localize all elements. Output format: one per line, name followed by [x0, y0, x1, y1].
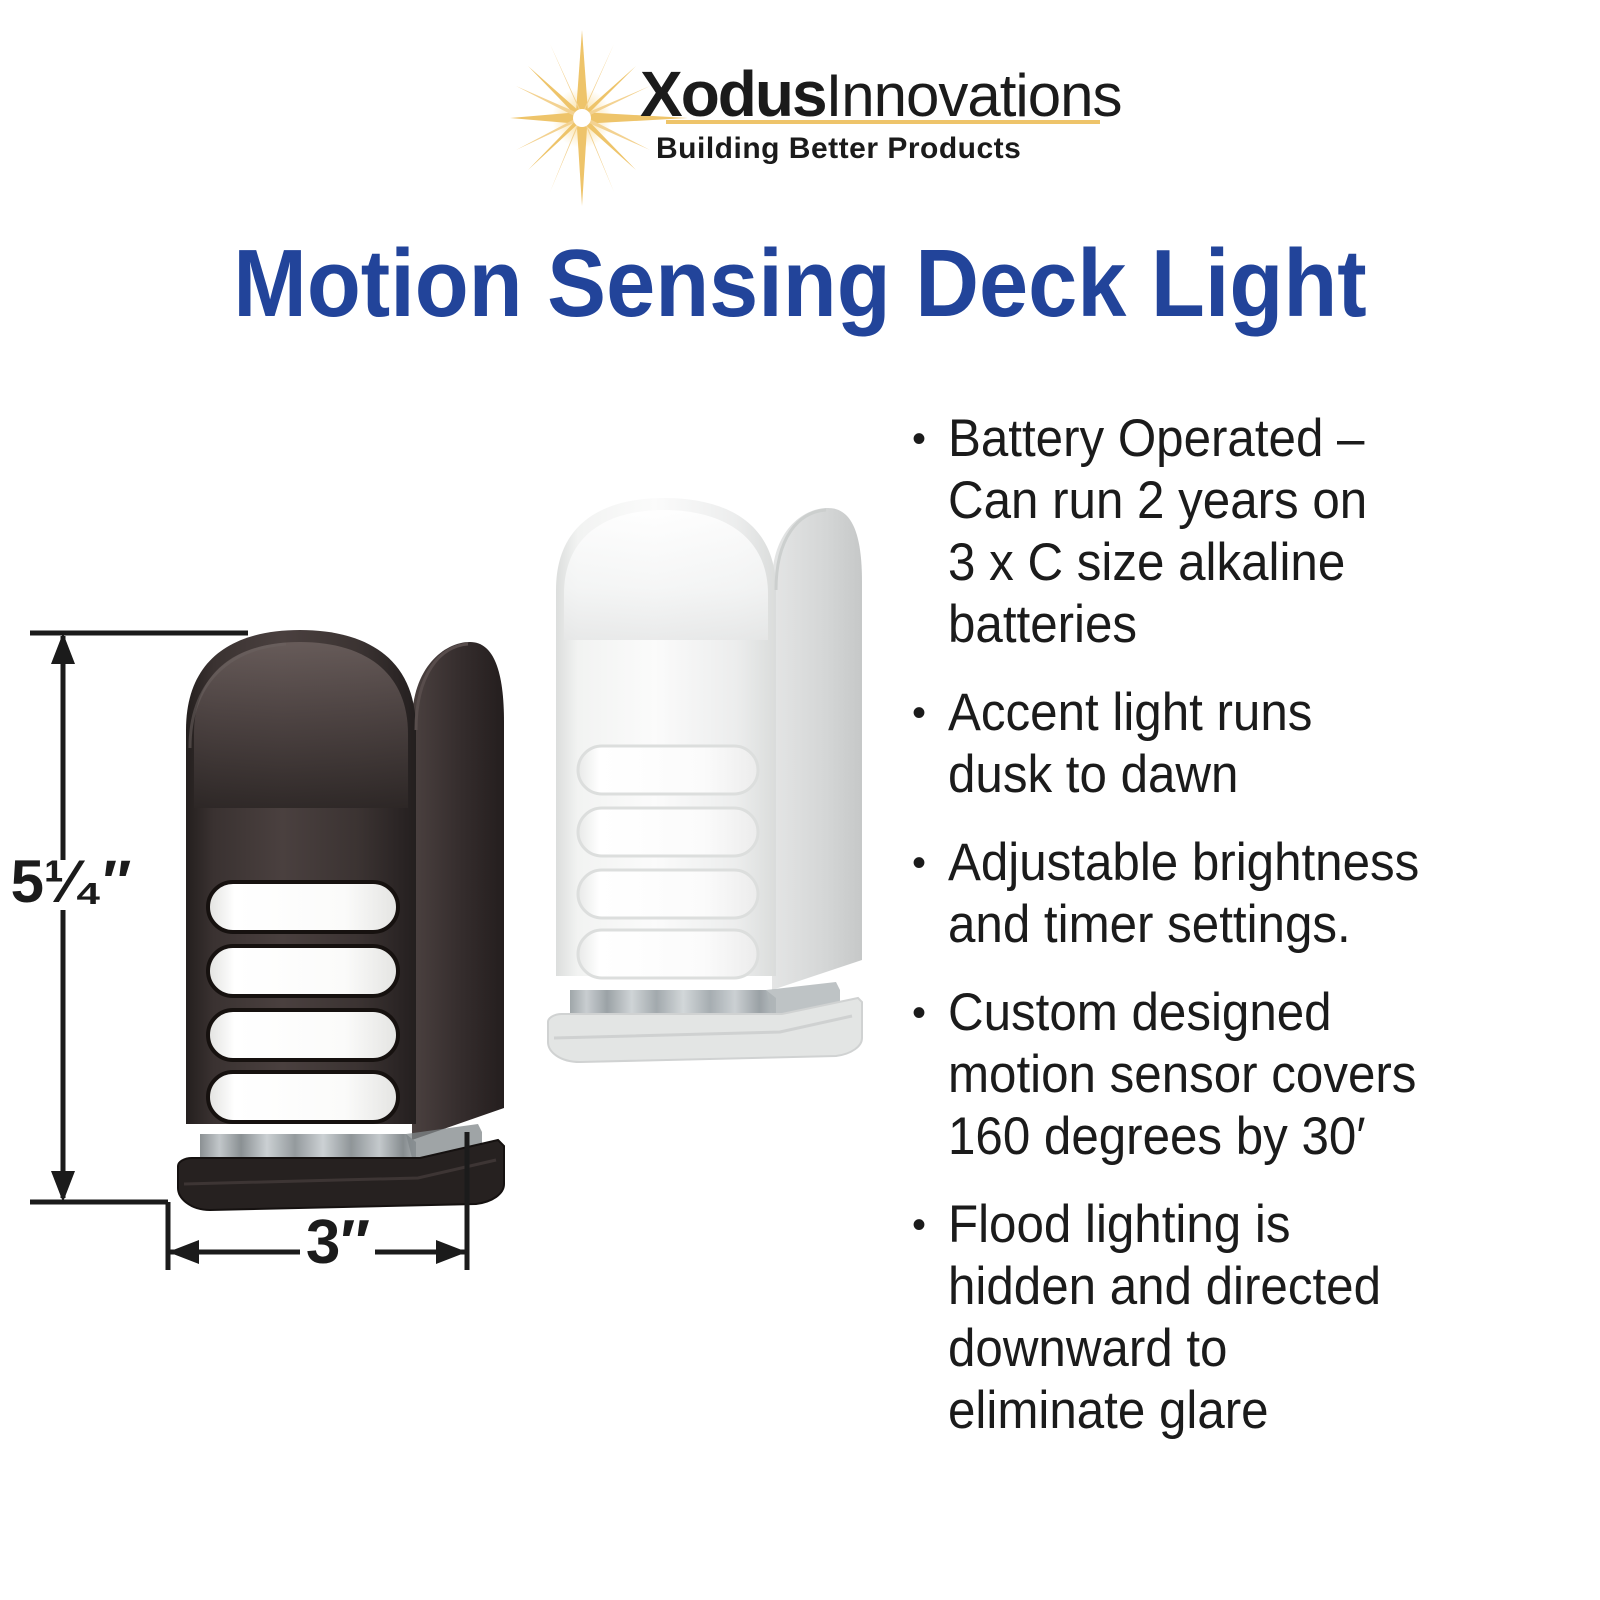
feature-accent-light: Accent light runs dusk to dawn: [948, 682, 1491, 806]
page-title: Motion Sensing Deck Light: [64, 236, 1536, 332]
bullet-glyph: •: [912, 682, 948, 744]
brand-tagline: Building Better Products: [656, 132, 1021, 166]
bullet-glyph: •: [912, 1194, 948, 1256]
list-item: • Adjustable brightness and timer settin…: [912, 832, 1532, 956]
feature-list: • Battery Operated – Can run 2 years on …: [912, 408, 1532, 1468]
feature-adjustable: Adjustable brightness and timer settings…: [948, 832, 1491, 956]
product-illustration: 5¹⁄₄″ 3″: [0, 390, 900, 1320]
list-item: • Battery Operated – Can run 2 years on …: [912, 408, 1532, 656]
height-arrow-down: [51, 1171, 75, 1202]
brand-wordmark: XodusInnovations: [640, 62, 1121, 126]
infographic-page: XodusInnovations Building Better Product…: [0, 0, 1600, 1600]
width-arrow-left: [168, 1240, 199, 1264]
height-arrow-up: [51, 633, 75, 664]
feature-flood-lighting: Flood lighting is hidden and directed do…: [948, 1194, 1491, 1442]
list-item: • Flood lighting is hidden and directed …: [912, 1194, 1532, 1442]
width-dimension-label: 3″: [296, 1212, 380, 1274]
width-arrow-right: [436, 1240, 467, 1264]
feature-battery: Battery Operated – Can run 2 years on 3 …: [948, 408, 1491, 656]
bullet-glyph: •: [912, 982, 948, 1044]
height-dimension-label: 5¹⁄₄″: [6, 852, 136, 912]
brand-gold-rule: [666, 120, 1100, 124]
list-item: • Accent light runs dusk to dawn: [912, 682, 1532, 806]
list-item: • Custom designed motion sensor covers 1…: [912, 982, 1532, 1168]
brand-logo: XodusInnovations Building Better Product…: [0, 28, 1600, 198]
brand-name-light: Innovations: [826, 62, 1122, 129]
feature-motion-sensor: Custom designed motion sensor covers 160…: [948, 982, 1491, 1168]
bullet-glyph: •: [912, 832, 948, 894]
bullet-glyph: •: [912, 408, 948, 470]
